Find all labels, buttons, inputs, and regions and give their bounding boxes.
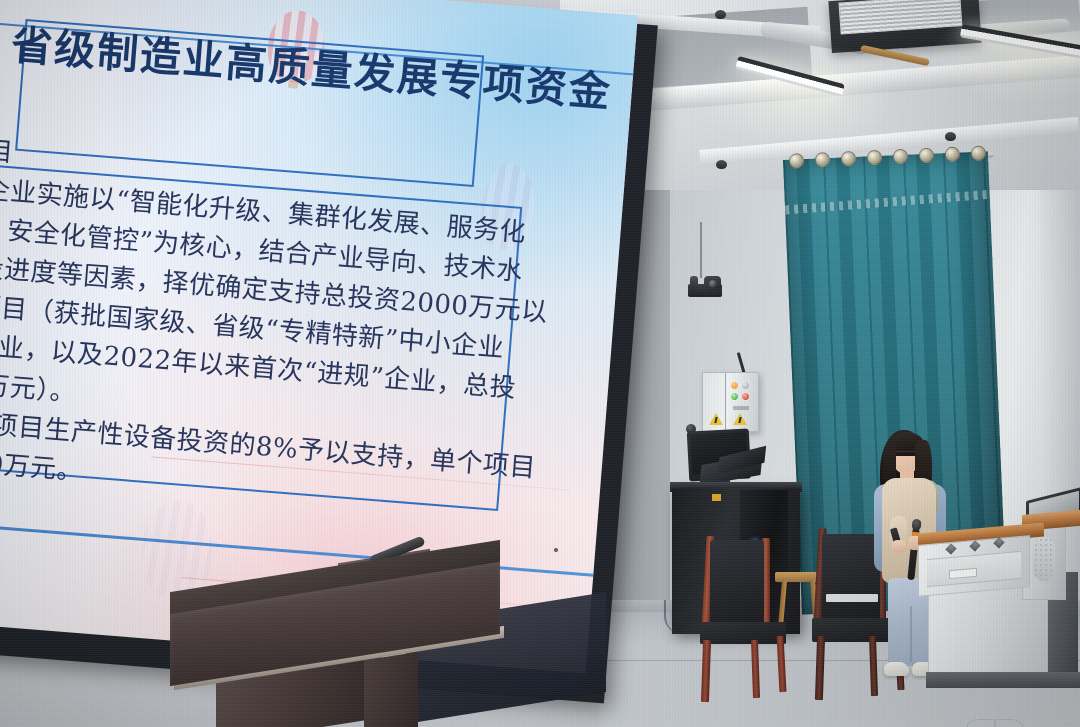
lectern-control-button[interactable] bbox=[993, 537, 1004, 548]
ceiling-sensor-icon bbox=[716, 160, 727, 169]
indicator-lamp-orange-icon bbox=[731, 382, 738, 389]
slide-body-text: 改造类项目 范围。对企业实施以“智能化升级、集群化发展、服务化 绿化转型、安全化… bbox=[0, 124, 541, 526]
wooden-podium[interactable] bbox=[170, 548, 590, 727]
electric-hazard-warning-icon bbox=[709, 413, 723, 425]
classroom-presentation-scene: 省级制造业高质量发展专项资金 改造类项目 范围。对企业实施以“智能化升级、集群化… bbox=[0, 0, 1080, 727]
ceiling-sensor-icon bbox=[945, 132, 956, 141]
podium-leg bbox=[364, 652, 418, 727]
camera-lens-icon bbox=[709, 280, 717, 288]
speaker-grille-icon bbox=[1033, 537, 1055, 581]
wall-mounted-ptz-camera bbox=[688, 276, 722, 298]
lectern-control-button[interactable] bbox=[945, 543, 956, 554]
lectern-control-button[interactable] bbox=[969, 540, 980, 551]
left-hand bbox=[892, 540, 906, 553]
lectern-body bbox=[918, 535, 1030, 597]
lectern-drawer[interactable] bbox=[927, 551, 1021, 587]
indicator-lamp-gray-icon bbox=[742, 382, 749, 389]
jeans-seam bbox=[910, 606, 912, 662]
lectern-pedestal bbox=[928, 586, 1048, 680]
lectern-emblem-icon bbox=[967, 717, 1031, 727]
white-sneaker bbox=[884, 662, 909, 676]
curtain-trim bbox=[785, 190, 990, 215]
rack-label bbox=[712, 494, 721, 501]
ceiling-sensor-icon bbox=[715, 10, 726, 19]
indicator-lamp-green-icon bbox=[731, 393, 738, 400]
multimedia-lectern[interactable] bbox=[918, 500, 1080, 690]
electric-hazard-warning-icon bbox=[733, 413, 747, 425]
wooden-chair-left[interactable] bbox=[700, 536, 798, 696]
indicator-lamp-red-icon bbox=[742, 393, 749, 400]
camera-cable bbox=[700, 222, 702, 278]
electrical-control-panel[interactable] bbox=[702, 372, 759, 432]
ac-grille-icon bbox=[838, 0, 962, 35]
drawer-handle[interactable] bbox=[949, 568, 977, 579]
lectern-base bbox=[926, 672, 1080, 688]
